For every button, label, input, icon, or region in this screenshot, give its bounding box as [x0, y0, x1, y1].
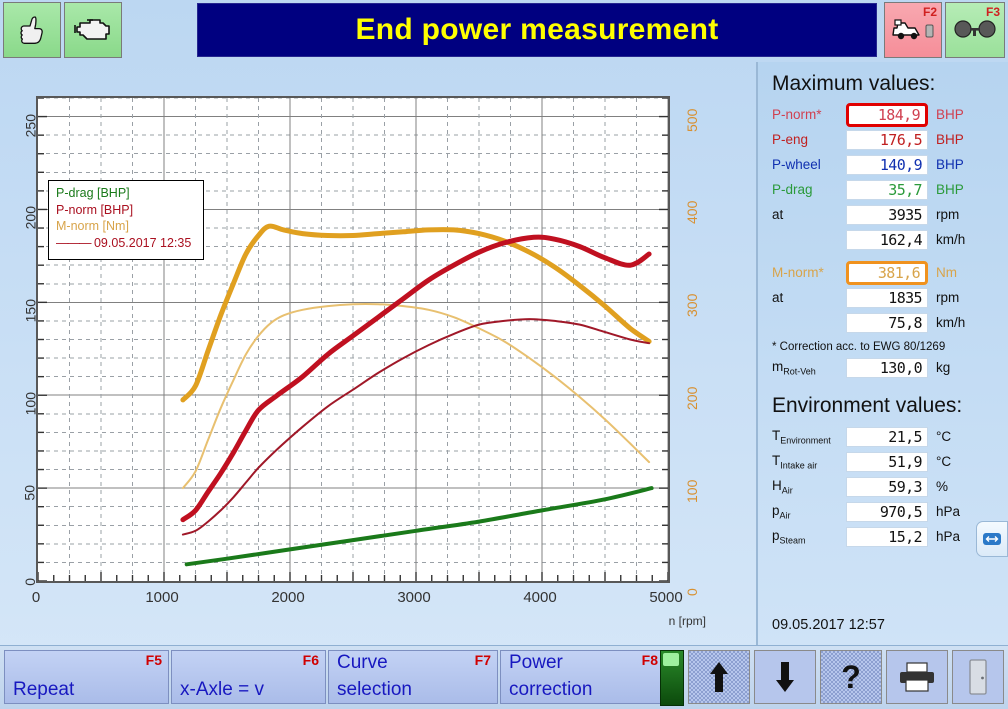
- function-button-label: correction: [509, 680, 592, 700]
- mass-label: mRot-Veh: [772, 359, 846, 377]
- maximum-values-rows: P-norm*184,9BHPP-eng176,5BHPP-wheel140,9…: [758, 102, 1008, 252]
- y2-tick-label: 200: [684, 387, 700, 410]
- function-button-label: Repeat: [13, 680, 74, 700]
- value-field: 381,6: [846, 261, 928, 285]
- thumbs-up-button[interactable]: [3, 2, 61, 58]
- value-field: 35,7: [846, 180, 928, 200]
- value-label: pSteam: [772, 528, 846, 546]
- environment-value-row: TEnvironment21,5°C: [758, 424, 1008, 449]
- x-tick-label: 1000: [145, 589, 178, 606]
- value-field: 3935: [846, 205, 928, 225]
- plot-canvas[interactable]: [36, 96, 670, 583]
- window-title-banner: End power measurement: [197, 3, 877, 57]
- curve-p-drag: [187, 488, 652, 564]
- thumbs-up-icon: [15, 13, 49, 47]
- up-arrow-button[interactable]: [688, 650, 750, 704]
- max-value-row: P-drag35,7BHP: [758, 177, 1008, 202]
- function-button-f8[interactable]: F8Powercorrection: [500, 650, 665, 704]
- function-key-label: F6: [303, 652, 319, 668]
- environment-value-row: pSteam15,2hPa: [758, 524, 1008, 549]
- value-unit: BHP: [928, 182, 964, 197]
- engine-button[interactable]: [64, 2, 122, 58]
- value-field: 15,2: [846, 527, 928, 547]
- value-unit: °C: [928, 429, 951, 444]
- function-key-label: F8: [642, 652, 658, 668]
- engine-icon: [73, 15, 113, 45]
- y-axis-left: 050100150200250: [0, 96, 34, 583]
- application-window: End power measurement F2 F3: [0, 0, 1008, 708]
- roller-set-icon: [951, 17, 999, 43]
- side-tab-button[interactable]: [976, 521, 1008, 557]
- x-tick-label: 3000: [397, 589, 430, 606]
- value-label: pAir: [772, 503, 846, 521]
- torque-value-row: 75,8km/h: [758, 310, 1008, 335]
- value-unit: BHP: [928, 107, 964, 122]
- down-arrow-icon: [772, 660, 798, 694]
- mass-value: 130,0: [846, 358, 928, 378]
- value-label: P-wheel: [772, 157, 846, 172]
- f2-sensor-button[interactable]: F2: [884, 2, 942, 58]
- status-led: [660, 650, 684, 706]
- function-button-label: x-Axle = v: [180, 680, 264, 700]
- legend-item-p-drag: P-drag [BHP]: [56, 185, 196, 202]
- value-unit: hPa: [928, 529, 960, 544]
- function-key-label: F7: [475, 652, 491, 668]
- chart-area: PKE 050100150200250 0100200300400500 010…: [0, 62, 752, 645]
- exit-button[interactable]: [952, 650, 1004, 704]
- y2-tick-label: 300: [684, 294, 700, 317]
- down-arrow-button[interactable]: [754, 650, 816, 704]
- value-field: 140,9: [846, 155, 928, 175]
- legend-item-p-norm: P-norm [BHP]: [56, 202, 196, 219]
- value-label: at: [772, 290, 846, 305]
- value-unit: hPa: [928, 504, 960, 519]
- printer-icon: [897, 661, 937, 693]
- y2-tick-label: 400: [684, 201, 700, 224]
- value-label: M-norm*: [772, 265, 846, 280]
- value-unit: rpm: [928, 290, 959, 305]
- function-button-f6[interactable]: F6x-Axle = v: [171, 650, 326, 704]
- function-button-label-top: Power: [509, 653, 563, 673]
- environment-value-row: TIntake air51,9°C: [758, 449, 1008, 474]
- environment-value-row: HAir59,3%: [758, 474, 1008, 499]
- y-axis-right: 0100200300400500: [676, 96, 716, 583]
- function-button-label-top: Curve: [337, 653, 388, 673]
- title-bar: End power measurement F2 F3: [0, 0, 1008, 62]
- legend-item-m-norm: M-norm [Nm]: [56, 218, 196, 235]
- f3-key-label: F3: [986, 5, 1000, 19]
- value-unit: BHP: [928, 157, 964, 172]
- chart-legend: P-drag [BHP] P-norm [BHP] M-norm [Nm] ——…: [48, 180, 204, 260]
- value-field: 51,9: [846, 452, 928, 472]
- value-label: TEnvironment: [772, 428, 846, 446]
- y2-tick-label: 0: [684, 588, 700, 596]
- value-unit: %: [928, 479, 948, 494]
- value-field: 176,5: [846, 130, 928, 150]
- value-unit: Nm: [928, 265, 957, 280]
- x-tick-label: 5000: [649, 589, 682, 606]
- value-label: at: [772, 207, 846, 222]
- measurement-timestamp: 09.05.2017 12:57: [772, 617, 885, 633]
- function-key-bar: F5RepeatF6x-Axle = vF7CurveselectionF8Po…: [0, 645, 1008, 709]
- max-value-row: P-wheel140,9BHP: [758, 152, 1008, 177]
- value-field: 1835: [846, 288, 928, 308]
- value-unit: °C: [928, 454, 951, 469]
- value-field: 162,4: [846, 230, 928, 250]
- maximum-values-heading: Maximum values:: [758, 62, 1008, 102]
- print-button[interactable]: [886, 650, 948, 704]
- mass-row: mRot-Veh 130,0 kg: [758, 355, 1008, 380]
- max-value-row: P-norm*184,9BHP: [758, 102, 1008, 127]
- max-value-row: at3935rpm: [758, 202, 1008, 227]
- correction-note: * Correction acc. to EWG 80/1269: [758, 335, 1008, 355]
- function-button-label: selection: [337, 680, 412, 700]
- page-title: End power measurement: [355, 13, 718, 47]
- value-field: 970,5: [846, 502, 928, 522]
- help-button[interactable]: ?: [820, 650, 882, 704]
- value-field: 21,5: [846, 427, 928, 447]
- max-value-row: 162,4km/h: [758, 227, 1008, 252]
- mass-unit: kg: [928, 360, 950, 375]
- up-arrow-icon: [706, 660, 732, 694]
- max-value-row: P-eng176,5BHP: [758, 127, 1008, 152]
- torque-values-rows: M-norm*381,6Nmat1835rpm75,8km/h: [758, 260, 1008, 335]
- value-label: P-eng: [772, 132, 846, 147]
- x-axis-title: n [rpm]: [669, 614, 706, 628]
- value-unit: km/h: [928, 232, 965, 247]
- y2-tick-label: 500: [684, 108, 700, 131]
- torque-value-row: M-norm*381,6Nm: [758, 260, 1008, 285]
- curve-layer: [38, 98, 668, 581]
- legend-date-text: 09.05.2017 12:35: [94, 236, 191, 250]
- environment-values-rows: TEnvironment21,5°CTIntake air51,9°CHAir5…: [758, 424, 1008, 549]
- value-unit: rpm: [928, 207, 959, 222]
- value-label: TIntake air: [772, 453, 846, 471]
- function-key-label: F5: [146, 652, 162, 668]
- car-sensor-icon: [889, 16, 937, 44]
- value-label: P-norm*: [772, 107, 846, 122]
- x-tick-label: 2000: [271, 589, 304, 606]
- function-button-f5[interactable]: F5Repeat: [4, 650, 169, 704]
- exit-door-icon: [967, 658, 989, 696]
- f2-key-label: F2: [923, 5, 937, 19]
- value-field: 184,9: [846, 103, 928, 127]
- value-unit: BHP: [928, 132, 964, 147]
- x-tick-label: 4000: [523, 589, 556, 606]
- environment-value-row: pAir970,5hPa: [758, 499, 1008, 524]
- value-unit: km/h: [928, 315, 965, 330]
- environment-values-heading: Environment values:: [758, 380, 1008, 424]
- value-label: HAir: [772, 478, 846, 496]
- function-button-f7[interactable]: F7Curveselection: [328, 650, 498, 704]
- value-field: 59,3: [846, 477, 928, 497]
- value-field: 75,8: [846, 313, 928, 333]
- values-panel: Maximum values: P-norm*184,9BHPP-eng176,…: [756, 62, 1008, 645]
- value-label: P-drag: [772, 182, 846, 197]
- x-tick-label: 0: [32, 589, 40, 606]
- torque-value-row: at1835rpm: [758, 285, 1008, 310]
- question-mark-icon: ?: [841, 659, 861, 696]
- y2-tick-label: 100: [684, 480, 700, 503]
- sync-arrows-icon: [982, 529, 1002, 549]
- f3-roller-button[interactable]: F3: [945, 2, 1005, 58]
- legend-item-date: ——— 09.05.2017 12:35: [56, 235, 196, 252]
